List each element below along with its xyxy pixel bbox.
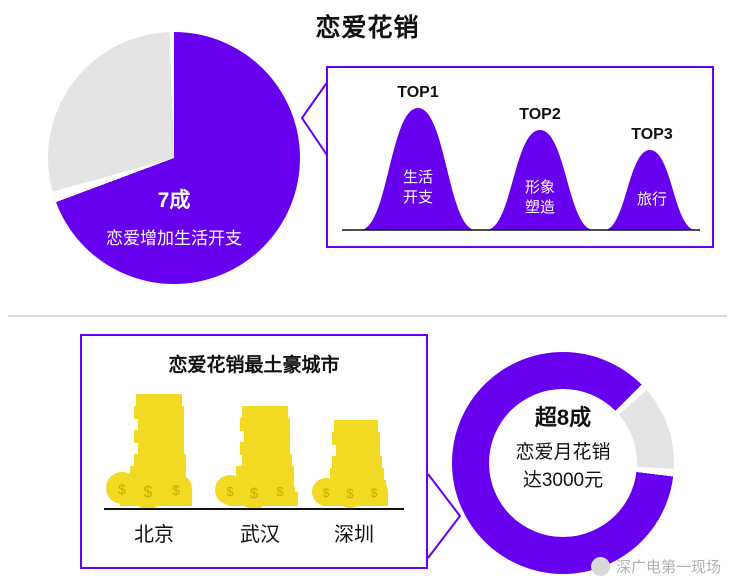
city-baseline xyxy=(104,508,404,510)
coin-stacks-chart: $ $ $ $ $ $ xyxy=(82,336,426,516)
top2-category-line2: 塑造 xyxy=(494,198,586,218)
donut-caption-line1: 恋爱月花销 xyxy=(452,437,674,464)
wechat-icon xyxy=(591,557,610,576)
svg-text:$: $ xyxy=(226,484,234,499)
top2-category-line1: 形象 xyxy=(494,178,586,198)
top3-rank-label: TOP3 xyxy=(606,126,698,144)
top1-rank-label: TOP1 xyxy=(372,84,464,102)
city-label-wuhan: 武汉 xyxy=(210,518,310,547)
top1-category-line1: 生活 xyxy=(372,168,464,188)
svg-text:$: $ xyxy=(276,484,284,499)
svg-text:$: $ xyxy=(371,486,378,500)
top1-category-line2: 开支 xyxy=(372,188,464,208)
donut-caption-line2: 达3000元 xyxy=(452,465,674,492)
footer-text: 深广电第一现场 xyxy=(616,556,721,577)
infographic-page: 恋爱花销 7成 恋爱增加生活开支 TOP1 TOP2 TOP3 生活 开支 形象… xyxy=(0,0,735,585)
top3-box: TOP1 TOP2 TOP3 生活 开支 形象 塑造 旅行 xyxy=(326,66,714,248)
svg-text:$: $ xyxy=(250,485,259,502)
top2-rank-label: TOP2 xyxy=(494,106,586,124)
section-divider xyxy=(8,315,727,317)
coin-stack-beijing: $ $ $ xyxy=(106,394,192,509)
donut-chart-bottom-right: 超8成 恋爱月花销 达3000元 xyxy=(452,352,674,574)
pie-chart-top-left: 7成 恋爱增加生活开支 xyxy=(48,32,300,284)
svg-text:$: $ xyxy=(118,481,126,497)
coin-stack-shenzhen: $ $ $ xyxy=(312,420,388,508)
svg-text:$: $ xyxy=(346,486,354,501)
pie-value-label: 7成 xyxy=(48,184,300,214)
coin-stack-wuhan: $ $ $ xyxy=(215,406,298,509)
city-label-beijing: 北京 xyxy=(104,518,204,547)
footer-watermark: 深广电第一现场 xyxy=(591,556,721,577)
city-label-shenzhen: 深圳 xyxy=(304,518,404,547)
pie-caption: 恋爱增加生活开支 xyxy=(38,224,310,249)
richest-cities-box: 恋爱花销最土豪城市 $ $ $ xyxy=(80,334,428,569)
svg-text:$: $ xyxy=(172,482,180,498)
top3-category-line1: 旅行 xyxy=(606,190,698,210)
svg-text:$: $ xyxy=(144,484,153,501)
svg-text:$: $ xyxy=(323,486,330,500)
donut-value-label: 超8成 xyxy=(452,400,674,432)
